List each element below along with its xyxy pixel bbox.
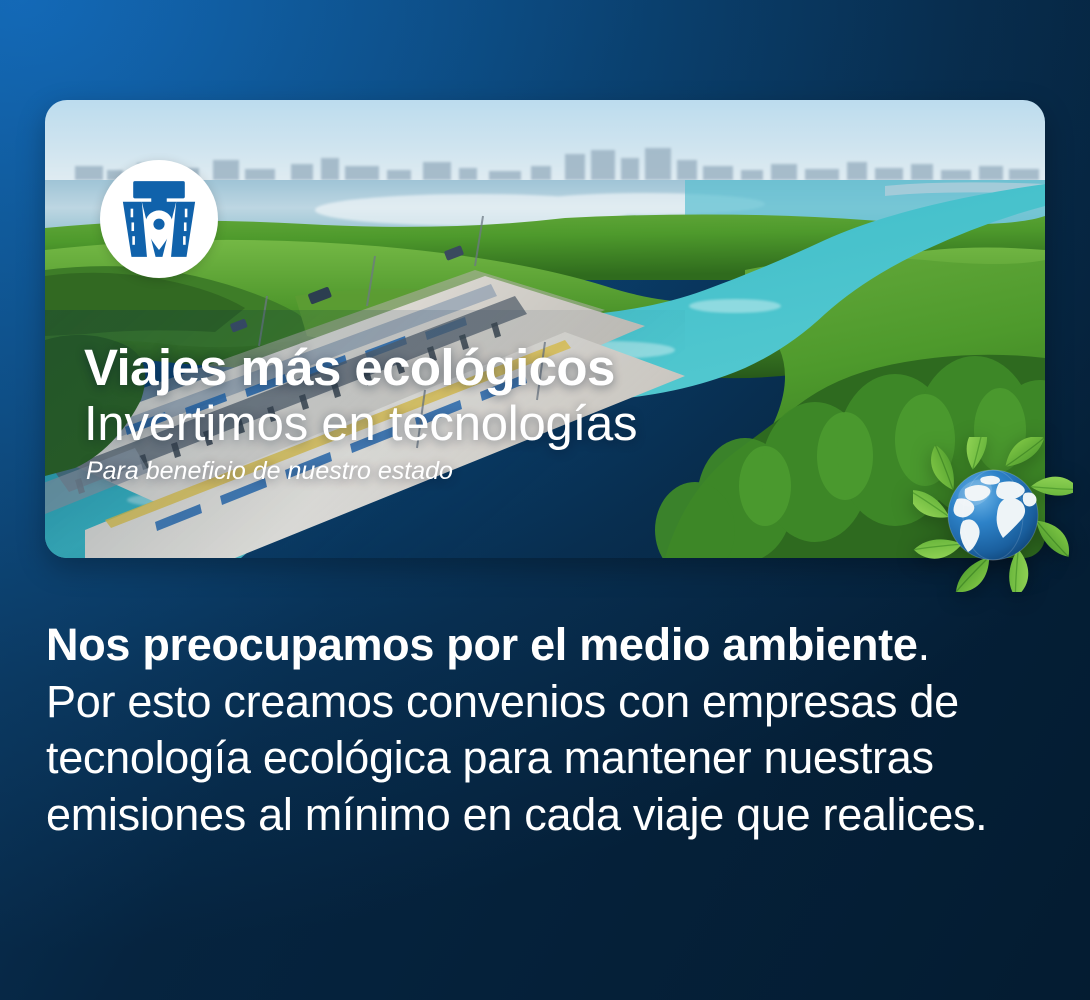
hero-photo-card — [45, 100, 1045, 558]
tm-logo-badge[interactable] — [100, 160, 218, 278]
headline-block: Viajes más ecológicos Invertimos en tecn… — [84, 342, 904, 485]
tm-road-pin-logo — [116, 176, 202, 262]
headline-primary: Viajes más ecológicos — [84, 342, 904, 393]
headline-secondary: Invertimos en tecnologías — [84, 397, 904, 452]
globe-leaves-icon — [913, 437, 1073, 592]
body-copy: Nos preocupamos por el medio ambiente. P… — [46, 617, 1006, 844]
aerial-bridge-lagoon-photo — [45, 100, 1045, 558]
globe-leaves-graphic — [913, 437, 1073, 592]
headline-tagline: Para beneficio de nuestro estado — [86, 458, 904, 486]
eco-travel-poster: Viajes más ecológicos Invertimos en tecn… — [0, 0, 1090, 1000]
body-copy-lead: Nos preocupamos por el medio ambiente — [46, 619, 918, 670]
